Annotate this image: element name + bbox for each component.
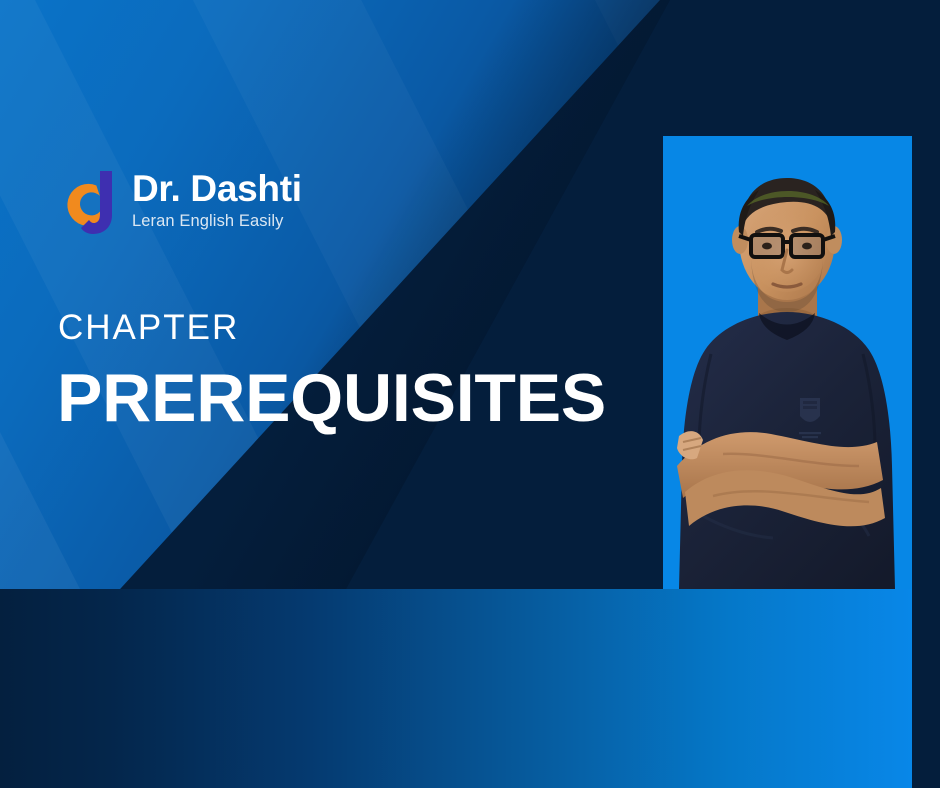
brand-text-block: Dr. Dashti Leran English Easily (132, 170, 302, 232)
shirt-crest-icon (799, 398, 821, 438)
instructor-photo-panel (663, 136, 912, 589)
chapter-title-slide: Dr. Dashti Leran English Easily CHAPTER … (0, 0, 940, 788)
chapter-title: PREREQUISITES (57, 363, 606, 434)
brand-tagline: Leran English Easily (132, 212, 302, 232)
bottom-gradient-band (0, 589, 912, 788)
brand-logo-lockup: Dr. Dashti Leran English Easily (60, 163, 302, 239)
dashti-monogram-icon (60, 163, 122, 239)
chapter-kicker: CHAPTER (58, 308, 239, 348)
bottom-band-right-cap (912, 589, 940, 788)
instructor-portrait (663, 136, 912, 589)
brand-name: Dr. Dashti (132, 170, 302, 208)
